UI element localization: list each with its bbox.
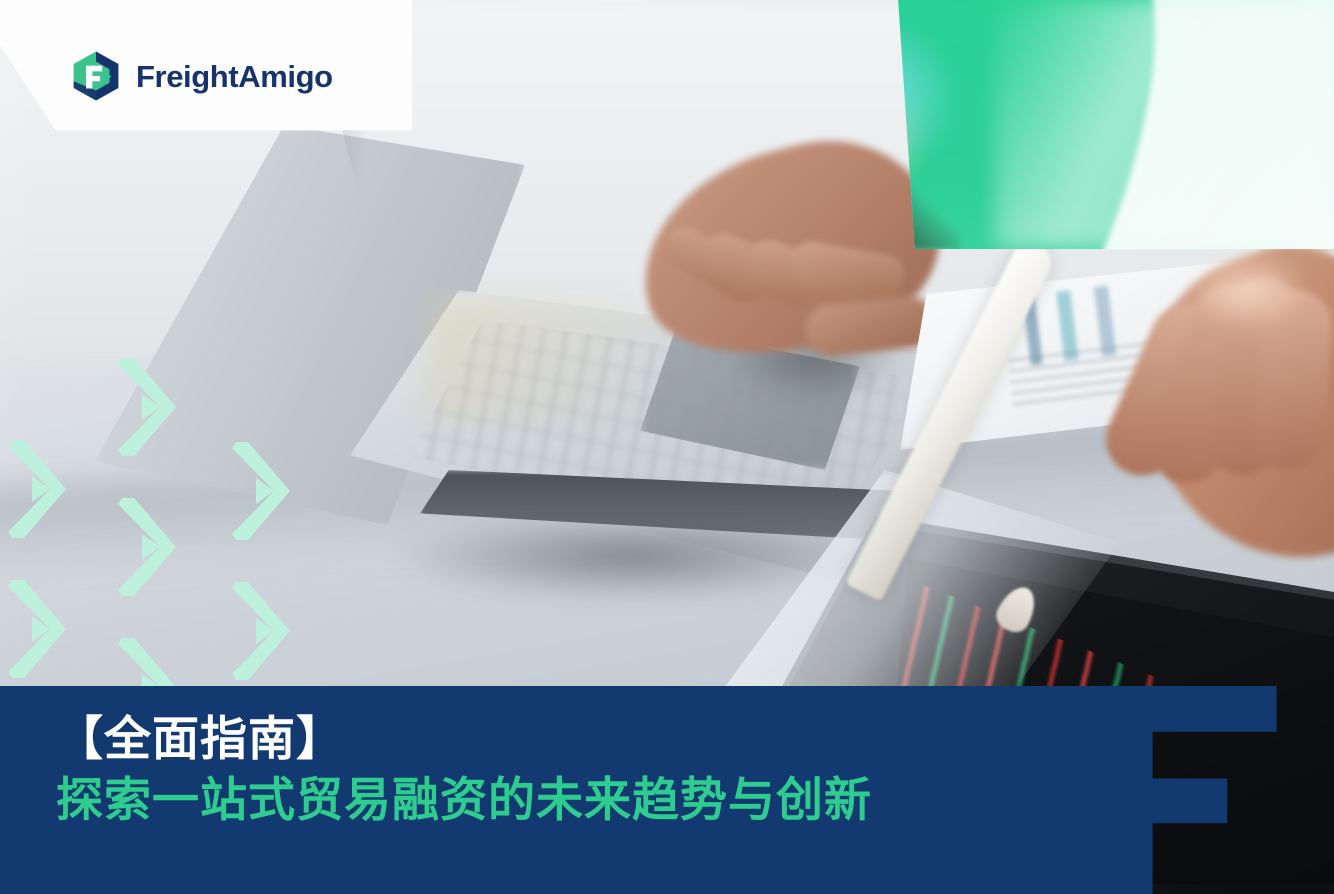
mint-overlay-panel	[880, 0, 1334, 249]
logo-panel: FreightAmigo	[0, 0, 412, 133]
mint-light-sheen	[994, 0, 1334, 249]
brand-wordmark: FreightAmigo	[136, 61, 333, 92]
headline-line-2: 探索一站式贸易融资的未来趋势与创新	[56, 773, 1096, 828]
banner-canvas: FreightAmigo 【全面指南】 探索一站式贸易融资的未来趋势与创新	[0, 0, 1334, 894]
brand-logo[interactable]: FreightAmigo	[70, 50, 333, 102]
hexagon-f-logo-icon	[70, 50, 122, 102]
headline-line-1: 【全面指南】	[56, 712, 1096, 767]
headline-text-block: 【全面指南】 探索一站式贸易融资的未来趋势与创新	[56, 712, 1096, 829]
